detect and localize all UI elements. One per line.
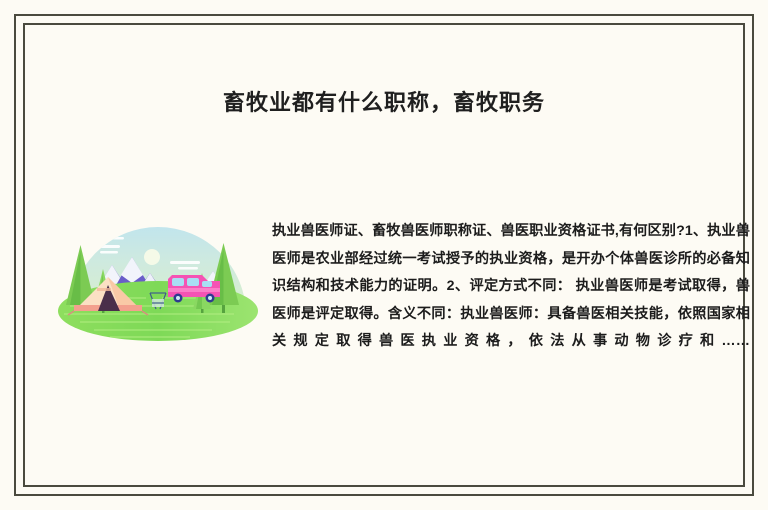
article-body-text: 执业兽医师证、畜牧兽医师职称证、兽医职业资格证书,有何区别?1、执业兽医师是农业… bbox=[272, 218, 750, 383]
camping-scene-illustration bbox=[50, 193, 265, 353]
page-title: 畜牧业都有什么职称，畜牧职务 bbox=[0, 89, 768, 118]
article-page: 畜牧业都有什么职称，畜牧职务 bbox=[0, 0, 768, 510]
sun-icon bbox=[144, 249, 160, 265]
article-content: 执业兽医师证、畜牧兽医师职称证、兽医职业资格证书,有何区别?1、执业兽医师是农业… bbox=[40, 188, 728, 418]
